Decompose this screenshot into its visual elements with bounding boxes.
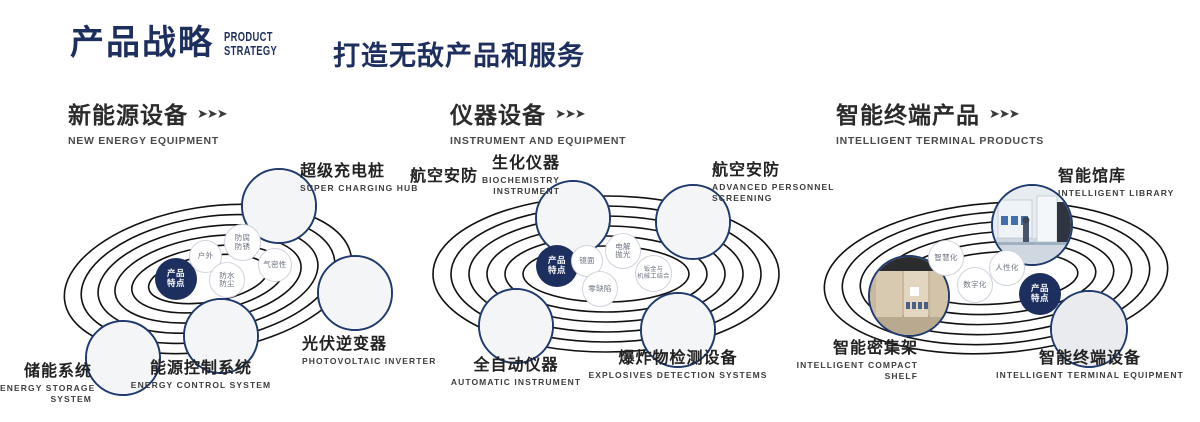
caption-intelligent-library: 智能馆库 INTELLIGENT LIBRARY [1058,168,1174,199]
feature-bubble-airtightness: 气密性 [258,248,292,282]
section-title-cn: 智能终端产品 [836,96,980,130]
feature-bubble-intelligence: 智慧化 [928,240,964,276]
caption-intelligent-compact-shelf: 智能密集架 INTELLIGENT COMPACT SHELF [758,340,918,382]
feature-bubble-humanization: 人性化 [989,250,1025,286]
caption-aviation-security-left: 航空安防 [410,168,478,186]
caption-en-line1: SUPER CHARGING HUB [300,183,419,194]
badge-line2: 特点 [167,279,185,289]
section-title-en: INSTRUMENT AND EQUIPMENT [450,135,626,147]
chevron-right-icon: ➤➤➤ [197,107,227,120]
caption-cn: 智能密集架 [758,340,918,358]
feature-label-line2: 机械工结合 [637,274,669,281]
feature-bubble-anticorrosion: 防腐 防锈 [224,224,261,261]
caption-cn: 智能馆库 [1058,168,1174,186]
page-title-en-line1: PRODUCT [224,30,277,44]
caption-cn: 航空安防 [410,168,478,186]
feature-label: 零缺陷 [588,285,611,293]
caption-en-line1: ENERGY STORAGE [0,383,92,394]
feature-label: 户外 [198,252,214,260]
page-title: 产品战略 PRODUCT STRATEGY [70,26,298,60]
caption-cn: 智能终端设备 [990,350,1190,368]
feature-label: 数字化 [963,281,986,289]
caption-super-charging-hub: 超级充电桩 SUPER CHARGING HUB [300,163,419,194]
feature-bubble-waterproof: 防水 防尘 [209,262,245,298]
node-photovoltaic-inverter[interactable] [317,255,393,331]
caption-cn: 能源控制系统 [86,360,316,378]
feature-bubble-zero-defect: 零缺陷 [582,271,618,307]
caption-en-line2: INSTRUMENT [410,186,560,197]
pv-inverter-photo [319,257,391,329]
feature-label-line2: 防锈 [235,243,251,251]
caption-cn: 爆炸物检测设备 [578,350,778,368]
feature-label: 智慧化 [934,254,957,262]
section-title-en: INTELLIGENT TERMINAL PRODUCTS [836,135,1044,147]
feature-label: 气密性 [263,261,286,269]
cluster-instruments: 生化仪器 BIOCHEMISTRY INSTRUMENT 航空安防 [410,150,810,400]
node-automatic-instrument[interactable] [478,288,554,364]
feature-bubble-sheet-metal-machining: 钣金与 机械工结合 [635,255,672,292]
automatic-instrument-photo [480,290,552,362]
chevron-right-icon: ➤➤➤ [989,107,1019,120]
caption-en-line1: INTELLIGENT TERMINAL EQUIPMENT [990,370,1190,381]
caption-en-line1: ENERGY CONTROL SYSTEM [86,380,316,391]
section-heading-intelligent-terminal: 智能终端产品 ➤➤➤ INTELLIGENT TERMINAL PRODUCTS [836,96,1044,147]
badge-line2: 特点 [1031,294,1049,304]
caption-intelligent-terminal-equipment: 智能终端设备 INTELLIGENT TERMINAL EQUIPMENT [990,350,1190,381]
page-subtitle: 打造无敌产品和服务 [333,34,585,73]
badge-product-features: 产品 特点 [1019,273,1061,315]
page-title-en: PRODUCT STRATEGY [224,30,277,57]
section-heading-instruments: 仪器设备 ➤➤➤ INSTRUMENT AND EQUIPMENT [450,96,626,147]
caption-en-line1: EXPLOSIVES DETECTION SYSTEMS [578,370,778,381]
caption-energy-control-system: 能源控制系统 ENERGY CONTROL SYSTEM [86,360,316,391]
chevron-right-icon: ➤➤➤ [555,107,585,120]
feature-bubble-digitalization: 数字化 [957,267,993,303]
caption-en-line2: SHELF [758,371,918,382]
caption-en-line1: INTELLIGENT LIBRARY [1058,188,1174,199]
cluster-intelligent-terminal: 智能馆库 INTELLIGENT LIBRARY [800,150,1200,400]
infographic-canvas: 产品战略 PRODUCT STRATEGY 打造无敌产品和服务 新能源设备 ➤➤… [0,0,1200,422]
feature-label: 人性化 [995,264,1018,272]
caption-energy-storage-system: 储能系统 ENERGY STORAGE SYSTEM [0,363,92,405]
section-title-cn: 新能源设备 [68,96,188,130]
section-title-en: NEW ENERGY EQUIPMENT [68,135,227,147]
section-heading-new-energy: 新能源设备 ➤➤➤ NEW ENERGY EQUIPMENT [68,96,227,147]
badge-line2: 特点 [548,266,566,276]
caption-cn: 储能系统 [0,363,92,381]
page-title-cn: 产品战略 [70,26,214,60]
caption-en-line1: INTELLIGENT COMPACT [758,360,918,371]
caption-cn: 超级充电桩 [300,163,419,181]
caption-explosives-detection-systems: 爆炸物检测设备 EXPLOSIVES DETECTION SYSTEMS [578,350,778,381]
feature-label-line2: 防尘 [219,280,235,288]
feature-bubble-electropolishing: 电解 抛光 [605,233,641,269]
cluster-new-energy: 储能系统 ENERGY STORAGE SYSTEM 超级充电桩 SUPER C… [0,150,420,400]
feature-label: 镜面 [579,257,595,265]
section-title-cn: 仪器设备 [450,96,546,130]
feature-label-line2: 抛光 [615,251,631,259]
caption-en-line2: SYSTEM [0,394,92,405]
page-title-en-line2: STRATEGY [224,44,277,58]
